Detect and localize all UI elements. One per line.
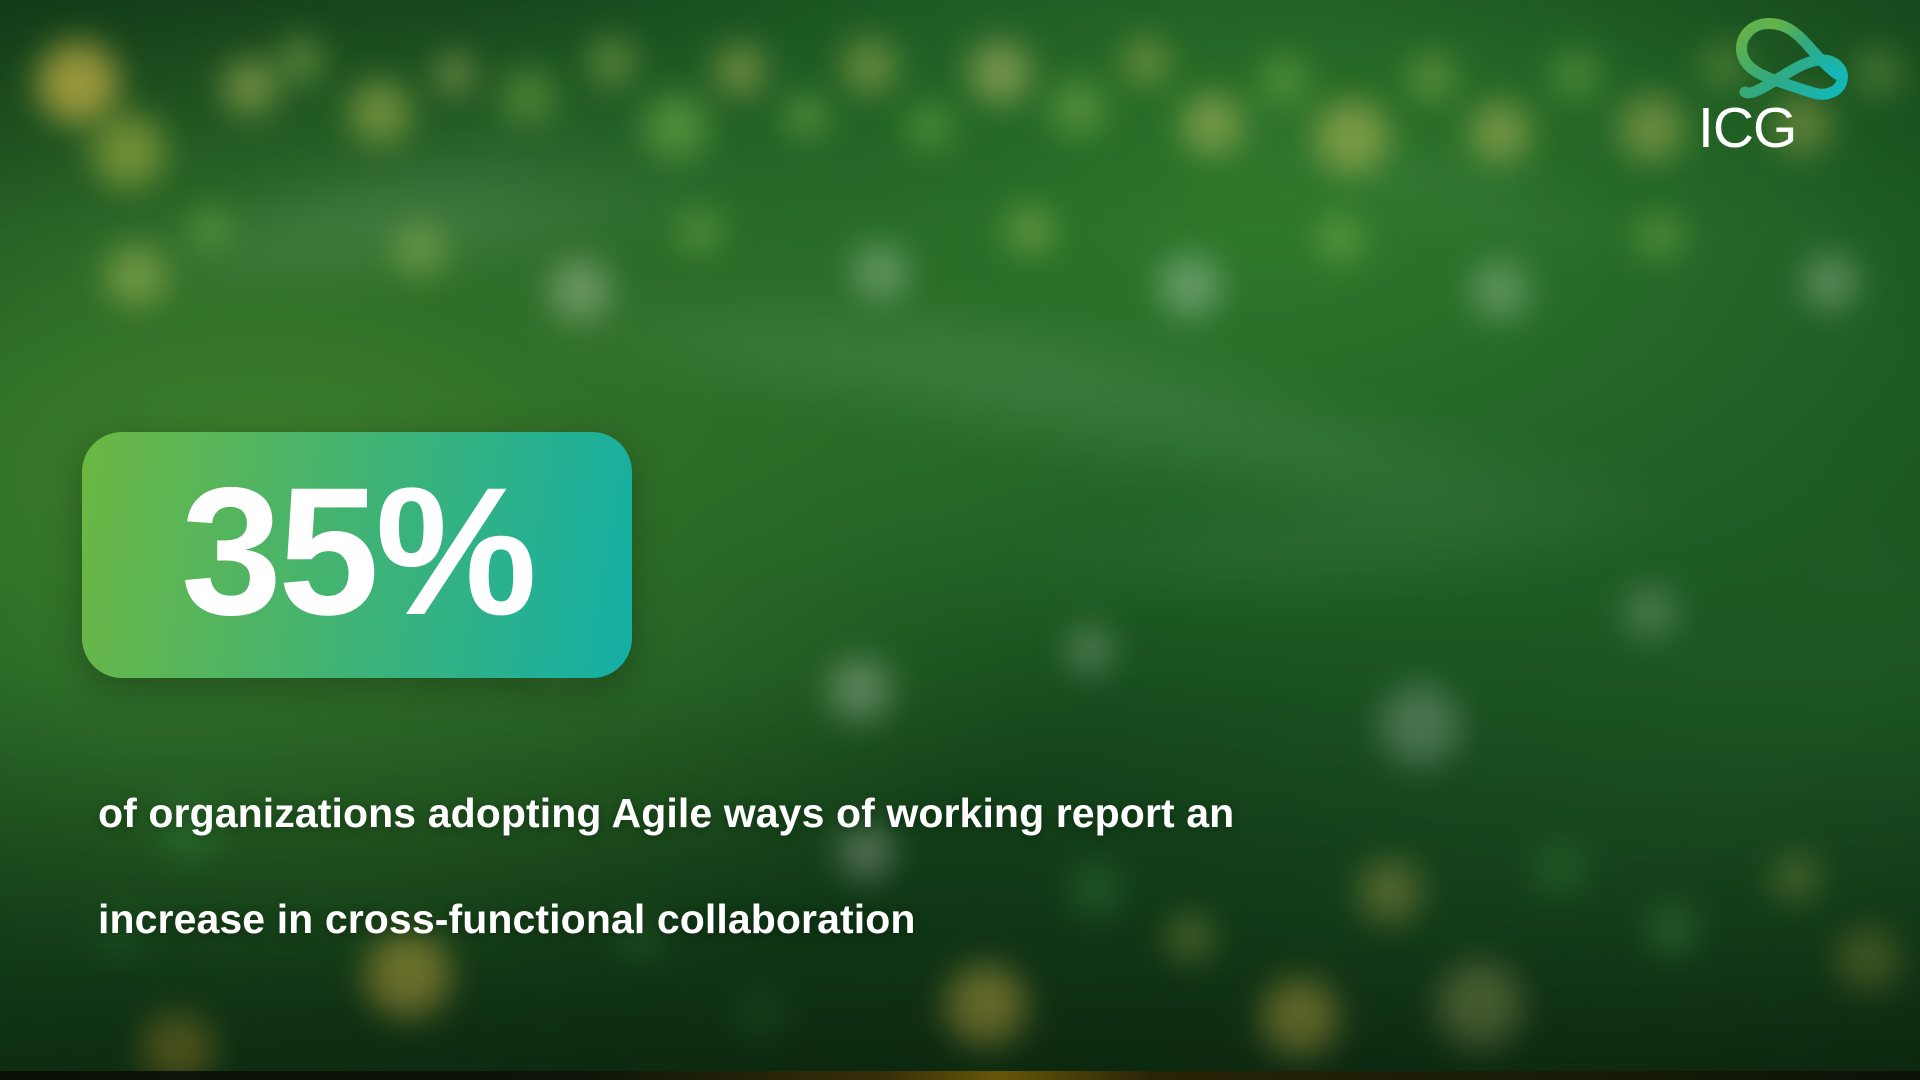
bokeh-dot — [1434, 960, 1526, 1052]
bokeh-dot — [1258, 976, 1342, 1060]
bokeh-dot — [1852, 46, 1904, 98]
bokeh-dot — [274, 34, 326, 86]
bokeh-dot — [640, 90, 712, 162]
bokeh-dot — [1256, 52, 1312, 108]
stat-value: 35% — [181, 460, 533, 642]
bokeh-dot — [546, 256, 614, 324]
bokeh-dot — [904, 100, 956, 152]
bokeh-dot — [1834, 926, 1902, 994]
bokeh-dot — [1468, 258, 1532, 322]
bokeh-dot — [1466, 98, 1534, 166]
bokeh-dot — [1314, 212, 1366, 264]
bokeh-dot — [1004, 204, 1056, 256]
bokeh-dot — [732, 986, 788, 1042]
icg-logo[interactable]: ICG — [1698, 18, 1848, 158]
bokeh-dot — [712, 42, 768, 98]
bokeh-dot — [1622, 584, 1678, 640]
bokeh-dot — [1376, 682, 1464, 770]
stat-badge: 35% — [82, 432, 632, 678]
slide-canvas: ICG 35% of organizations adopting Agile … — [0, 0, 1920, 1080]
bokeh-dot — [34, 38, 122, 126]
infinity-icon — [1736, 18, 1848, 104]
bokeh-dot — [1064, 624, 1116, 676]
bokeh-dot — [138, 1010, 218, 1080]
bokeh-dot — [433, 52, 477, 96]
bokeh-dot — [942, 962, 1030, 1050]
caption-line-1: of organizations adopting Agile ways of … — [98, 760, 1698, 866]
bokeh-dot — [1800, 252, 1860, 312]
bokeh-dot — [1634, 210, 1686, 262]
bokeh-dot — [1312, 96, 1392, 176]
bokeh-dot — [346, 78, 414, 146]
caption-text: of organizations adopting Agile ways of … — [98, 760, 1698, 972]
bokeh-dot — [850, 242, 910, 302]
bokeh-dot — [498, 66, 558, 126]
bokeh-dot — [1120, 36, 1172, 88]
bokeh-dot — [782, 92, 830, 140]
bottom-letterbox-strip — [0, 1071, 1920, 1080]
bokeh-dot — [676, 208, 724, 256]
bokeh-dot — [1770, 852, 1822, 904]
caption-line-2: increase in cross-functional collaborati… — [98, 866, 1698, 972]
bokeh-dot — [188, 206, 232, 250]
bokeh-dot — [586, 36, 638, 88]
bokeh-dot — [1178, 90, 1246, 158]
bokeh-dot — [840, 36, 900, 96]
bokeh-dot — [1616, 92, 1688, 164]
bokeh-dot — [392, 222, 448, 278]
bokeh-dot — [88, 110, 168, 190]
logo-wordmark: ICG — [1698, 100, 1848, 157]
bokeh-dot — [826, 656, 894, 724]
bokeh-dot — [104, 244, 168, 308]
bokeh-dot — [1406, 52, 1458, 104]
bokeh-dot — [966, 38, 1034, 106]
bokeh-dot — [1156, 252, 1224, 320]
bokeh-dot — [1048, 78, 1108, 138]
bokeh-dot — [1548, 46, 1604, 102]
bokeh-dot — [220, 56, 280, 116]
